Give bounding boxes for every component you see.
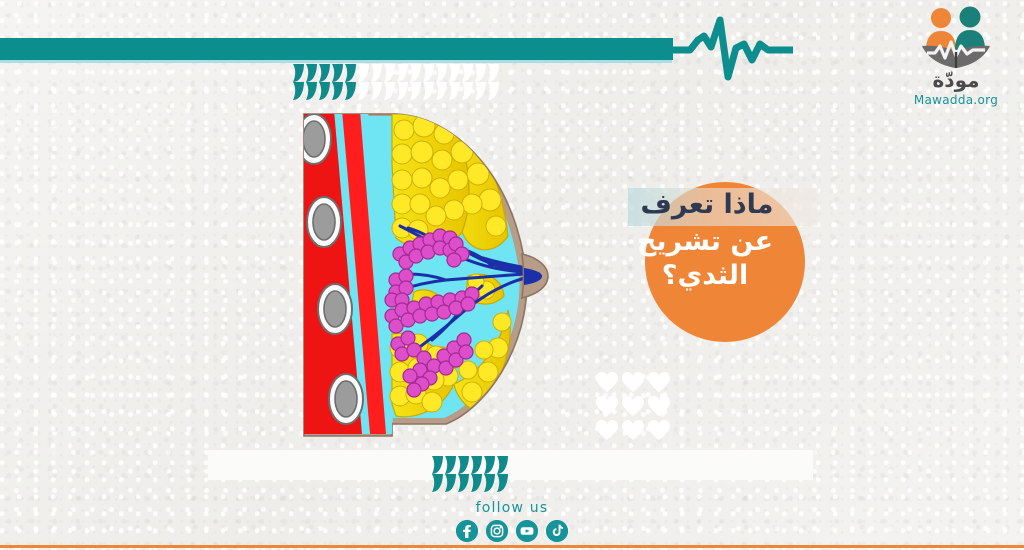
leaf-icon: [395, 64, 408, 82]
leaf-icon: [408, 64, 421, 82]
leaf-icon: [317, 82, 330, 100]
heart-icon: [622, 372, 644, 392]
body-edge: [296, 110, 302, 434]
leaf-icon: [382, 82, 395, 100]
heart-icon: [596, 396, 618, 416]
leaf-icon: [456, 474, 469, 492]
footer-orange-rule: [0, 545, 1024, 548]
headline-line-2: عن تشريح: [600, 225, 822, 259]
follow-us-label: follow us: [0, 500, 1024, 516]
tiktok-icon[interactable]: [546, 520, 568, 542]
heartbeat-line-icon: [668, 14, 818, 84]
leaf-icon: [395, 82, 408, 100]
leaf-icon: [495, 474, 508, 492]
leaf-pattern-teal: [291, 64, 356, 100]
leaf-icon: [356, 64, 369, 82]
heart-icon: [596, 420, 618, 440]
heart-icon: [648, 420, 670, 440]
leaf-icon: [495, 456, 508, 474]
leaf-icon: [473, 64, 486, 82]
leaf-icon: [447, 64, 460, 82]
heart-icon: [596, 372, 618, 392]
leaf-icon: [356, 82, 369, 100]
leaf-icon: [469, 456, 482, 474]
facebook-icon[interactable]: [456, 520, 478, 542]
headline-line-3: الثدي؟: [600, 259, 822, 293]
leaf-icon: [343, 64, 356, 82]
leaf-icon: [304, 64, 317, 82]
leaf-icon: [434, 64, 447, 82]
leaf-icon: [434, 82, 447, 100]
youtube-icon[interactable]: [516, 520, 538, 542]
leaf-pattern-footer: [430, 456, 508, 492]
footer-white-band: [208, 450, 813, 480]
leaf-icon: [369, 64, 382, 82]
leaf-icon: [408, 82, 421, 100]
leaf-icon: [421, 64, 434, 82]
breast-anatomy-cross-section: [296, 104, 596, 444]
leaf-icon: [430, 474, 443, 492]
heart-icon: [622, 420, 644, 440]
leaf-icon: [382, 64, 395, 82]
logo-arabic-name: مودّة: [902, 70, 1010, 90]
mawadda-two-people-heart-logo: [913, 6, 999, 68]
page-title: ماذا تعرف عن تشريح الثدي؟: [600, 185, 822, 345]
header-bar-underline: [0, 60, 672, 63]
leaf-icon: [469, 474, 482, 492]
leaf-icon: [330, 82, 343, 100]
heart-icon: [622, 396, 644, 416]
leaf-icon: [456, 456, 469, 474]
leaf-icon: [343, 82, 356, 100]
heart-icon: [648, 396, 670, 416]
leaf-icon: [304, 82, 317, 100]
leaf-icon: [330, 64, 343, 82]
header-teal-bar: [0, 38, 673, 60]
leaf-icon: [421, 82, 434, 100]
footer-follow-block: follow us: [0, 500, 1024, 542]
leaf-icon: [291, 82, 304, 100]
leaf-icon: [317, 64, 330, 82]
leaf-icon: [473, 82, 486, 100]
heart-grid-decoration: [596, 372, 676, 444]
headline-line-1: ماذا تعرف: [600, 185, 822, 225]
leaf-icon: [291, 64, 304, 82]
leaf-icon: [482, 474, 495, 492]
leaf-icon: [460, 64, 473, 82]
leaf-icon: [443, 474, 456, 492]
leaf-icon: [447, 82, 460, 100]
instagram-icon[interactable]: [486, 520, 508, 542]
social-links: [0, 520, 1024, 542]
heart-icon: [648, 372, 670, 392]
leaf-icon: [430, 456, 443, 474]
leaf-pattern-white: [356, 64, 499, 100]
leaf-icon: [482, 456, 495, 474]
leaf-icon: [369, 82, 382, 100]
leaf-icon: [486, 64, 499, 82]
leaf-icon: [443, 456, 456, 474]
logo-website: Mawadda.org: [902, 94, 1010, 106]
leaf-icon: [460, 82, 473, 100]
leaf-icon: [486, 82, 499, 100]
brand-logo[interactable]: مودّة Mawadda.org: [902, 6, 1010, 110]
